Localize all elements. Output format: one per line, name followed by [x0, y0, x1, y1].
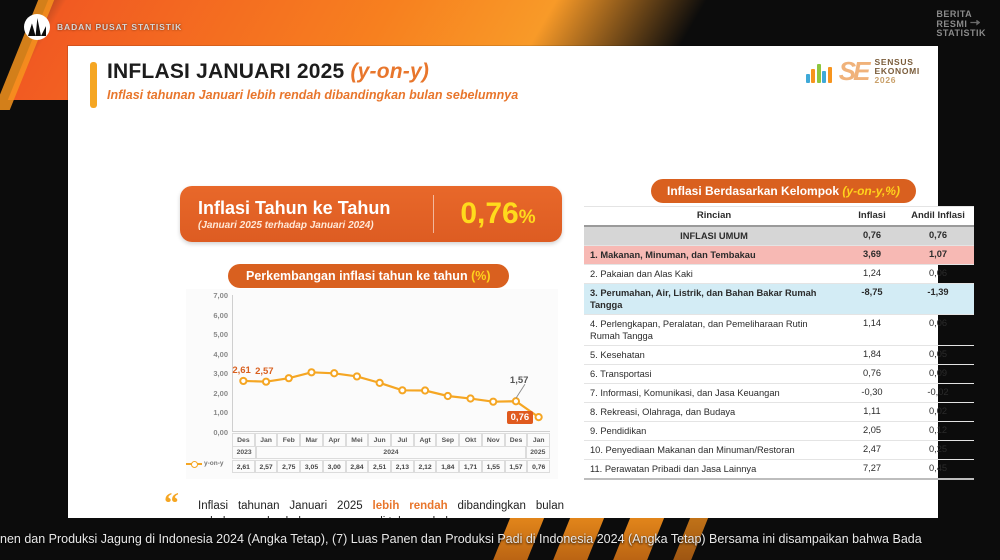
page-title: INFLASI JANUARI 2025 (y-on-y) [107, 60, 518, 84]
y-axis-tick: 1,00 [186, 408, 228, 417]
cell-andil-inflasi: 0,02 [902, 403, 974, 421]
cell-rincian: INFLASI UMUM [584, 227, 842, 245]
cell-inflasi: 2,47 [842, 441, 902, 459]
table-row[interactable]: 5. Kesehatan1,840,05 [584, 346, 974, 365]
kpi-card-inflasi-tahun-ke-tahun: Inflasi Tahun ke Tahun (Januari 2025 ter… [180, 186, 562, 242]
lower-third-caption-band: nen dan Produksi Jagung di Indonesia 202… [0, 518, 1000, 560]
table-body: INFLASI UMUM0,760,761. Makanan, Minuman,… [584, 227, 974, 480]
table-row[interactable]: 11. Perawatan Pribadi dan Jasa Lainnya7,… [584, 460, 974, 480]
legend-label: y-on-y [204, 460, 224, 467]
title-yoy-tag: (y-on-y) [350, 60, 429, 83]
table-header-row: Rincian Inflasi Andil Inflasi [584, 206, 974, 227]
slide-header: INFLASI JANUARI 2025 (y-on-y) Inflasi ta… [90, 60, 518, 108]
table-row[interactable]: 2. Pakaian dan Alas Kaki1,240,06 [584, 265, 974, 284]
th-inflasi: Inflasi [842, 207, 902, 225]
cell-inflasi: 3,69 [842, 246, 902, 264]
x-axis-year: 2025 [526, 447, 550, 459]
cell-andil-inflasi: 0,25 [902, 441, 974, 459]
table-title-accent: (y-on-y,%) [842, 184, 900, 198]
cell-inflasi: 7,27 [842, 460, 902, 478]
sensus-year: 2026 [874, 76, 920, 85]
x-axis-month: Jan [255, 433, 278, 447]
cell-rincian: 6. Transportasi [584, 365, 842, 383]
table-row[interactable]: 9. Pendidikan2,050,12 [584, 422, 974, 441]
data-point [513, 398, 519, 404]
table-row[interactable]: INFLASI UMUM0,760,76 [584, 227, 974, 246]
cell-rincian: 3. Perumahan, Air, Listrik, dan Bahan Ba… [584, 284, 842, 314]
x-axis-value: 2,84 [346, 460, 369, 473]
x-axis-month: Okt [459, 433, 482, 447]
bps-bars-icon [806, 61, 832, 83]
point-value-label: 2,61 [232, 365, 251, 376]
y-axis-tick: 5,00 [186, 330, 228, 339]
data-point [377, 380, 383, 386]
cell-inflasi: 0,76 [842, 227, 902, 245]
th-andil-inflasi: Andil Inflasi [902, 207, 974, 225]
berita-resmi-statistik-logo: BERITA RESMI STATISTIK [936, 10, 986, 39]
x-axis-month: Feb [277, 433, 300, 447]
cell-andil-inflasi: 0,09 [902, 365, 974, 383]
cell-rincian: 11. Perawatan Pribadi dan Jasa Lainnya [584, 460, 842, 478]
y-axis-tick: 2,00 [186, 389, 228, 398]
x-axis-month: Mei [346, 433, 369, 447]
cell-inflasi: -8,75 [842, 284, 902, 314]
chart-year-row: 202320242025 [232, 447, 550, 459]
chart-legend: y-on-y [186, 460, 232, 467]
y-axis-tick: 6,00 [186, 311, 228, 320]
x-axis-month: Sep [436, 433, 459, 447]
chart-series-svg [232, 295, 550, 432]
x-axis-value: 0,76 [527, 460, 550, 473]
x-axis-value: 1,57 [505, 460, 528, 473]
cell-andil-inflasi: 1,07 [902, 246, 974, 264]
chart-title-pill: Perkembangan inflasi tahun ke tahun (%) [228, 264, 509, 288]
th-rincian: Rincian [584, 207, 842, 225]
table-title-pill: Inflasi Berdasarkan Kelompok (y-on-y,%) [651, 179, 916, 203]
cell-inflasi: 1,24 [842, 265, 902, 283]
callout-leader-line [516, 384, 525, 398]
cell-inflasi: 1,14 [842, 315, 902, 345]
x-axis-value: 2,12 [414, 460, 437, 473]
screenshot-root: BADAN PUSAT STATISTIK BERITA RESMI STATI… [0, 0, 1000, 560]
x-axis-month: Nov [482, 433, 505, 447]
cell-rincian: 10. Penyediaan Makanan dan Minuman/Resto… [584, 441, 842, 459]
y-axis-tick: 7,00 [186, 291, 228, 300]
cell-andil-inflasi: 0,76 [902, 227, 974, 245]
caption-ticker-text: nen dan Produksi Jagung di Indonesia 202… [0, 532, 1000, 546]
data-point [536, 414, 542, 420]
bps-logo: BADAN PUSAT STATISTIK [24, 14, 182, 40]
cell-rincian: 1. Makanan, Minuman, dan Tembakau [584, 246, 842, 264]
bps-logo-label: BADAN PUSAT STATISTIK [57, 22, 182, 32]
slide-subtitle: Inflasi tahunan Januari lebih rendah dib… [107, 88, 518, 102]
data-point [422, 387, 428, 393]
brs-line-3: STATISTIK [936, 29, 986, 39]
x-axis-month: Jun [368, 433, 391, 447]
y-axis-tick: 3,00 [186, 369, 228, 378]
x-axis-value: 2,75 [277, 460, 300, 473]
table-row[interactable]: 1. Makanan, Minuman, dan Tembakau3,691,0… [584, 246, 974, 265]
x-axis-value: 1,84 [436, 460, 459, 473]
kpi-value: 0,76% [434, 197, 562, 231]
kpi-subtitle: (Januari 2025 terhadap Januari 2024) [198, 220, 433, 231]
data-point [467, 395, 473, 401]
sensus-ekonomi-logo: SENSUS EKONOMI 2026 [874, 58, 920, 85]
cell-rincian: 4. Perlengkapan, Peralatan, dan Pemeliha… [584, 315, 842, 345]
cell-inflasi: 2,05 [842, 422, 902, 440]
chart-month-row: DesJanFebMarAprMeiJunJulAgtSepOktNovDesJ… [232, 433, 550, 447]
presentation-slide: INFLASI JANUARI 2025 (y-on-y) Inflasi ta… [68, 46, 938, 520]
chart-title-percent: (%) [471, 269, 490, 283]
cell-andil-inflasi: -0,02 [902, 384, 974, 402]
x-axis-month: Des [505, 433, 528, 447]
chart-x-axis-table: DesJanFebMarAprMeiJunJulAgtSepOktNovDesJ… [232, 433, 550, 473]
cell-rincian: 2. Pakaian dan Alas Kaki [584, 265, 842, 283]
x-axis-value: 2,51 [368, 460, 391, 473]
cell-rincian: 5. Kesehatan [584, 346, 842, 364]
bps-emblem-icon [24, 14, 50, 40]
quote-mark-icon: “ [164, 494, 179, 514]
data-point [331, 370, 337, 376]
cell-andil-inflasi: 0,45 [902, 460, 974, 478]
cell-rincian: 9. Pendidikan [584, 422, 842, 440]
cell-inflasi: 0,76 [842, 365, 902, 383]
x-axis-value: 2,61 [232, 460, 255, 473]
data-point [399, 387, 405, 393]
x-axis-month: Apr [323, 433, 346, 447]
slide-logos: SE SENSUS EKONOMI 2026 [806, 56, 920, 87]
table-row[interactable]: 3. Perumahan, Air, Listrik, dan Bahan Ba… [584, 284, 974, 315]
x-axis-month: Des [232, 433, 255, 447]
arrow-icon [970, 20, 980, 26]
line-chart: 7,006,005,004,003,002,001,000,00 2,612,5… [186, 289, 558, 479]
table-row[interactable]: 8. Rekreasi, Olahraga, dan Budaya1,110,0… [584, 403, 974, 422]
x-axis-value: 1,55 [482, 460, 505, 473]
x-axis-value: 2,13 [391, 460, 414, 473]
x-axis-year: 2024 [256, 447, 525, 459]
kpi-title: Inflasi Tahun ke Tahun [198, 198, 433, 218]
x-axis-month: Jul [391, 433, 414, 447]
point-value-label: 2,57 [255, 366, 274, 377]
quote-highlight: lebih rendah [373, 500, 448, 512]
x-axis-value: 3,00 [323, 460, 346, 473]
data-point [308, 369, 314, 375]
table-row[interactable]: 4. Perlengkapan, Peralatan, dan Pemeliha… [584, 315, 974, 346]
data-point [490, 399, 496, 405]
table-row[interactable]: 10. Penyediaan Makanan dan Minuman/Resto… [584, 441, 974, 460]
cell-rincian: 7. Informasi, Komunikasi, dan Jasa Keuan… [584, 384, 842, 402]
cell-andil-inflasi: 0,12 [902, 422, 974, 440]
x-axis-value: 1,71 [459, 460, 482, 473]
data-point [445, 393, 451, 399]
x-axis-value: 3,05 [300, 460, 323, 473]
chart-value-row: y-on-y 2,612,572,753,053,002,842,512,132… [232, 460, 550, 473]
table-row[interactable]: 6. Transportasi0,760,09 [584, 365, 974, 384]
data-point [354, 373, 360, 379]
title-accent-bar [90, 62, 97, 108]
x-axis-value: 2,57 [255, 460, 278, 473]
y-axis-tick: 4,00 [186, 350, 228, 359]
kpi-text-block: Inflasi Tahun ke Tahun (Januari 2025 ter… [180, 198, 433, 231]
y-axis-tick: 0,00 [186, 428, 228, 437]
cell-andil-inflasi: -1,39 [902, 284, 974, 314]
sensus-swoosh-icon: SE [839, 56, 868, 87]
x-axis-year: 2023 [232, 447, 256, 459]
legend-line-icon [186, 463, 202, 465]
x-axis-month: Jan [527, 433, 550, 447]
cell-andil-inflasi: 0,06 [902, 265, 974, 283]
cell-rincian: 8. Rekreasi, Olahraga, dan Budaya [584, 403, 842, 421]
cell-inflasi: 1,11 [842, 403, 902, 421]
x-axis-month: Mar [300, 433, 323, 447]
cell-inflasi: 1,84 [842, 346, 902, 364]
x-axis-month: Agt [414, 433, 437, 447]
cell-andil-inflasi: 0,06 [902, 315, 974, 345]
kpi-unit: % [519, 207, 536, 228]
data-point [286, 375, 292, 381]
data-point [263, 379, 269, 385]
highlight-value-label: 0,76 [507, 411, 534, 424]
callout-value-label: 1,57 [510, 375, 529, 386]
data-point [240, 378, 246, 384]
cell-inflasi: -0,30 [842, 384, 902, 402]
kelompok-table: Rincian Inflasi Andil Inflasi INFLASI UM… [584, 206, 974, 480]
table-row[interactable]: 7. Informasi, Komunikasi, dan Jasa Keuan… [584, 384, 974, 403]
cell-andil-inflasi: 0,05 [902, 346, 974, 364]
